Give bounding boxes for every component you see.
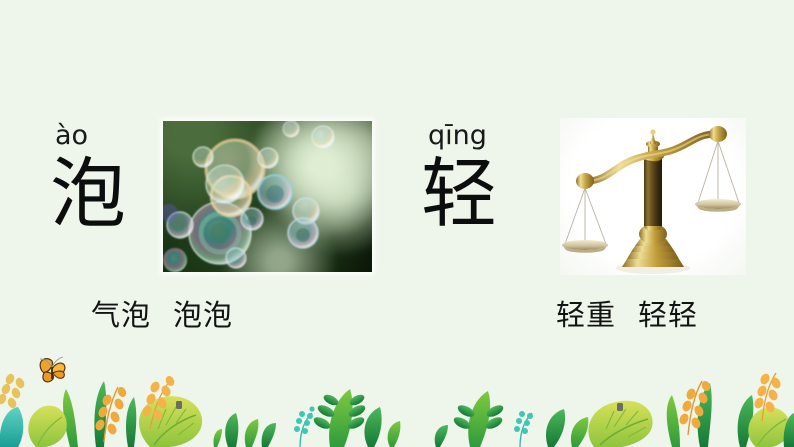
word-pao-1: 气泡 bbox=[91, 298, 151, 332]
bubbles-photo bbox=[163, 121, 372, 272]
slide-canvas: ào 泡 气泡泡泡 bbox=[0, 0, 794, 447]
foliage-mid-left bbox=[213, 389, 400, 447]
bottom-foliage-border bbox=[0, 337, 794, 447]
balance-scale-photo bbox=[560, 118, 746, 275]
character-qing: 轻 bbox=[421, 156, 497, 232]
word-pao-2: 泡泡 bbox=[173, 298, 233, 332]
bubbles-photo-overlay bbox=[163, 121, 372, 272]
balance-scale-drawing bbox=[560, 118, 746, 275]
word-qing-1: 轻重 bbox=[556, 298, 616, 332]
words-row-qing: 轻重轻轻 bbox=[447, 292, 794, 334]
butterfly-icon bbox=[40, 357, 65, 382]
character-pao: 泡 bbox=[50, 156, 126, 232]
foliage-right-cluster bbox=[588, 372, 794, 447]
foliage-mid-right bbox=[435, 391, 589, 447]
foliage-left-cluster bbox=[0, 357, 202, 447]
pinyin-pao: ào bbox=[55, 122, 88, 149]
words-row-pao: 气泡泡泡 bbox=[0, 292, 342, 334]
word-qing-2: 轻轻 bbox=[638, 298, 698, 332]
pinyin-qing: qīng bbox=[428, 122, 487, 149]
